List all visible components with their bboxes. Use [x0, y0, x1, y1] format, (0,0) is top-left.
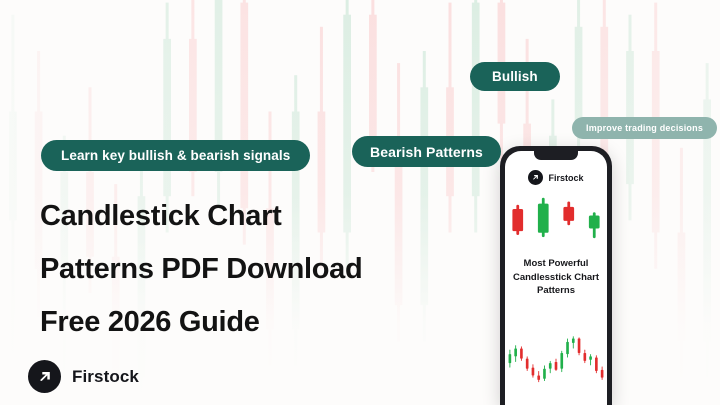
- badge-bearish-patterns-label: Bearish Patterns: [370, 144, 483, 160]
- phone-notch: [534, 151, 578, 160]
- phone-caption-line-2: Candlesstick Chart: [509, 271, 603, 285]
- poster-canvas: Learn key bullish & bearish signals Bear…: [0, 0, 720, 405]
- badge-improve-trading-decisions-label: Improve trading decisions: [586, 123, 703, 133]
- badge-learn-signals[interactable]: Learn key bullish & bearish signals: [41, 140, 310, 171]
- badge-learn-signals-label: Learn key bullish & bearish signals: [61, 148, 290, 163]
- phone-hero-candlestick-chart: [505, 193, 607, 251]
- phone-mockup: Firstock Most Powerful Candlesstick Char…: [500, 146, 612, 405]
- brand-name: Firstock: [72, 367, 139, 387]
- badge-bullish-label: Bullish: [492, 69, 538, 84]
- page-title-line-1: Candlestick Chart: [40, 190, 470, 243]
- arrow-up-right-icon: [28, 360, 61, 393]
- phone-caption-line-1: Most Powerful: [509, 257, 603, 271]
- phone-caption: Most Powerful Candlesstick Chart Pattern…: [509, 257, 603, 298]
- badge-bearish-patterns[interactable]: Bearish Patterns: [352, 136, 501, 167]
- phone-brand-logo: Firstock: [505, 170, 607, 185]
- brand-logo[interactable]: Firstock: [28, 360, 139, 393]
- phone-brand-name: Firstock: [548, 173, 583, 183]
- phone-series-candlestick-chart: [507, 331, 605, 393]
- page-title: Candlestick Chart Patterns PDF Download …: [40, 190, 470, 349]
- badge-bullish[interactable]: Bullish: [470, 62, 560, 91]
- page-title-line-3: Free 2026 Guide: [40, 296, 470, 349]
- phone-screen: Firstock Most Powerful Candlesstick Char…: [505, 151, 607, 405]
- badge-improve-trading-decisions[interactable]: Improve trading decisions: [572, 117, 717, 139]
- page-title-line-2: Patterns PDF Download: [40, 243, 470, 296]
- phone-caption-line-3: Patterns: [509, 284, 603, 298]
- arrow-up-right-icon: [528, 170, 543, 185]
